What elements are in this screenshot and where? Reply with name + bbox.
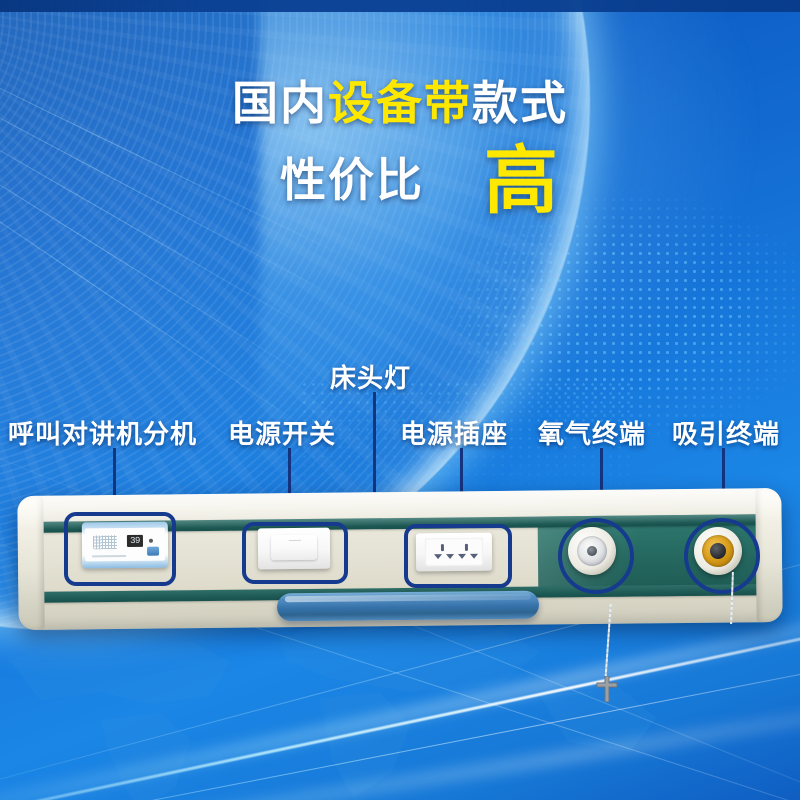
- pull-cord-weight-icon[interactable]: [596, 676, 618, 702]
- headline-line-2: 性价比 高: [0, 144, 800, 218]
- callout-label: 床头灯: [330, 363, 411, 393]
- headline-line2-big: 高: [484, 144, 560, 218]
- highlight-circle-suction: [684, 518, 760, 594]
- callout-oxygen-terminal: 氧气终端: [538, 414, 646, 451]
- headline-line-1: 国内设备带款式: [0, 78, 800, 130]
- callout-label: 电源插座: [400, 419, 508, 449]
- headline-line2-left: 性价比: [280, 155, 424, 207]
- bed-lamp-rail: [277, 591, 539, 622]
- callout-bed-lamp: 床头灯: [330, 358, 411, 395]
- highlight-circle-oxygen: [558, 518, 634, 594]
- highlight-box-socket: [404, 524, 512, 588]
- headline-line1-part1: 国内: [232, 77, 328, 129]
- headline-line1-highlight: 设备带: [328, 77, 472, 129]
- callout-label: 呼叫对讲机分机: [8, 419, 197, 449]
- highlight-box-switch: [242, 522, 348, 584]
- callout-power-switch: 电源开关: [228, 414, 336, 451]
- highlight-box-intercom: [64, 512, 176, 586]
- headline-line1-part2: 款式: [472, 77, 568, 129]
- callout-nurse-call-intercom: 呼叫对讲机分机: [8, 414, 197, 451]
- callout-label: 电源开关: [228, 419, 336, 449]
- callout-suction-terminal: 吸引终端: [672, 414, 780, 451]
- panel-end-cap-left: [17, 496, 44, 630]
- callout-label: 氧气终端: [538, 419, 646, 449]
- headline-block: 国内设备带款式 性价比 高: [0, 78, 800, 218]
- promotional-banner: 国内设备带款式 性价比 高 呼叫对讲机分机 电源开关 床头灯 电源插座 氧气终端…: [0, 0, 800, 800]
- callout-label: 吸引终端: [672, 419, 780, 449]
- callout-power-socket: 电源插座: [400, 414, 508, 451]
